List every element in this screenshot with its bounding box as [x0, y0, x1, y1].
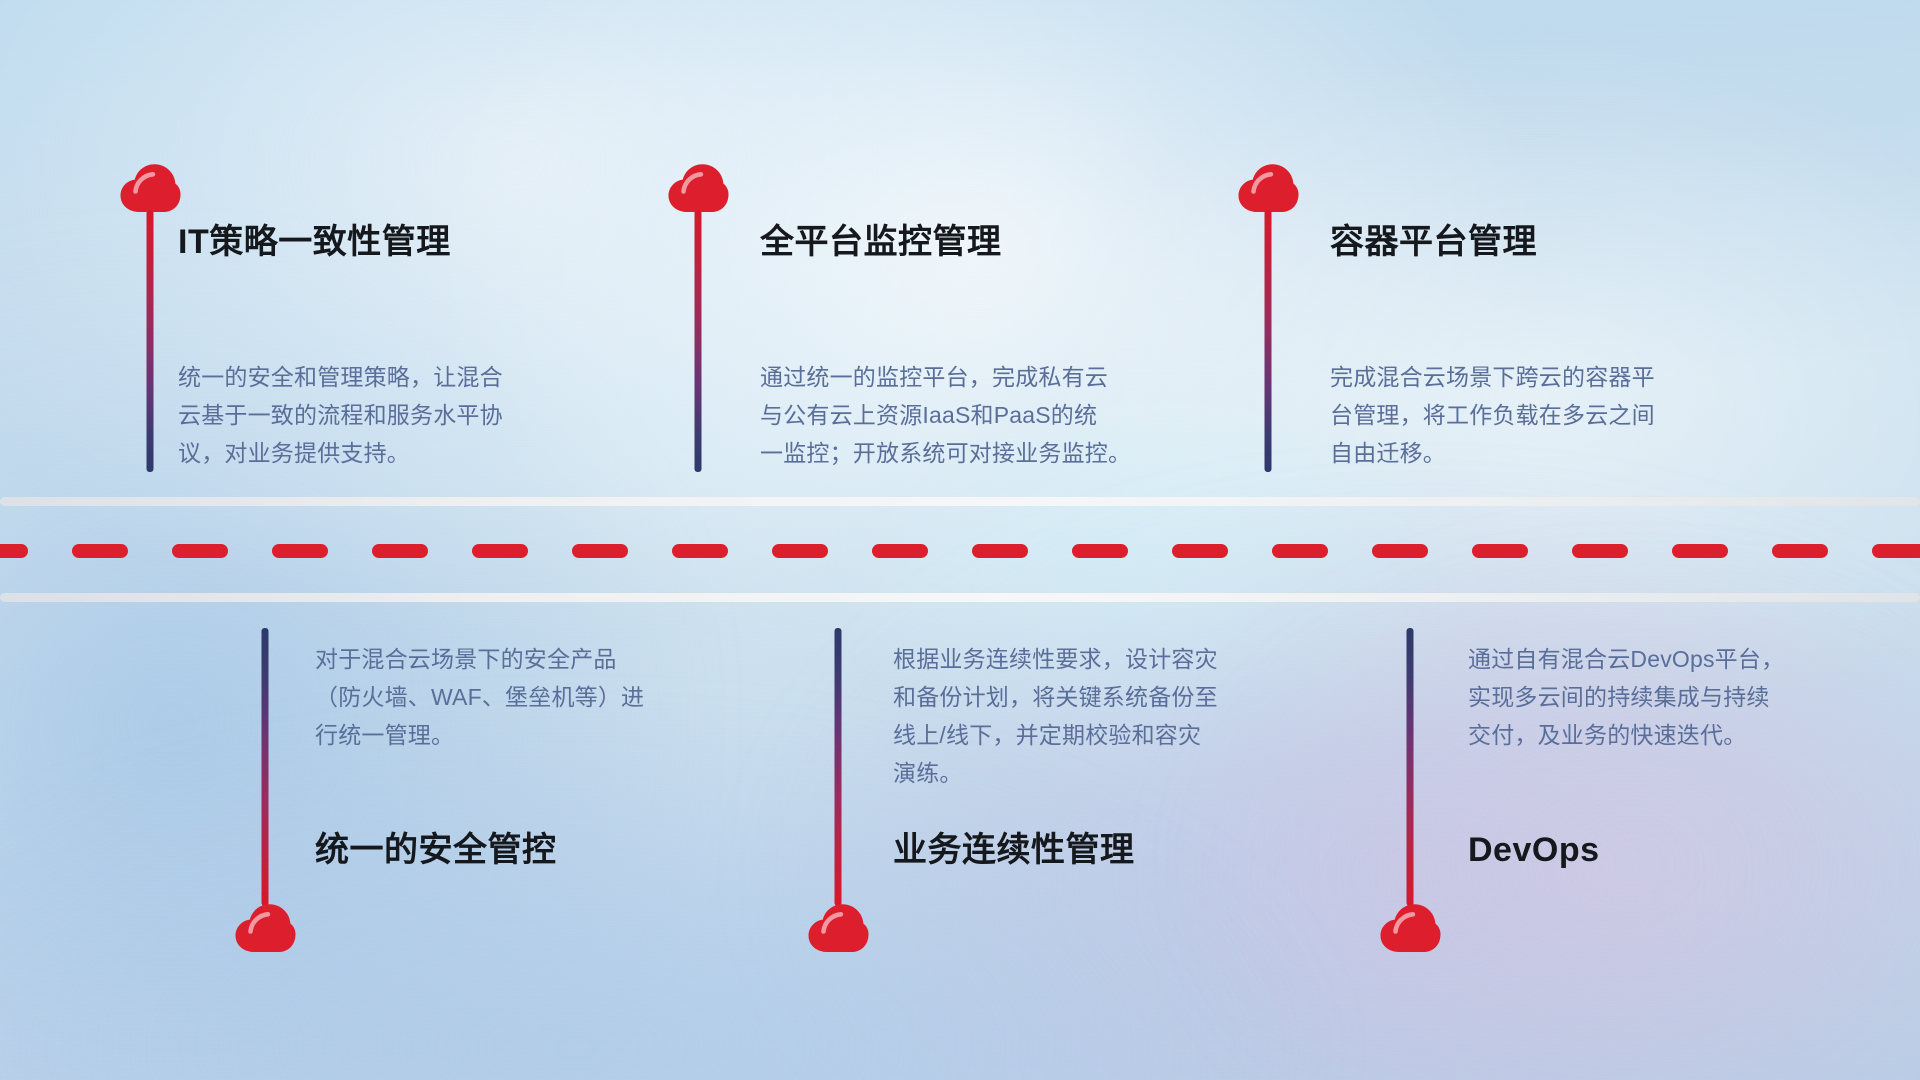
road-edge-top: [0, 497, 1920, 506]
cloud-icon: [1379, 900, 1441, 954]
road-dash-segment: [272, 544, 328, 558]
body-devops: 通过自有混合云DevOps平台， 实现多云间的持续集成与持续 交付，及业务的快速…: [1468, 640, 1908, 754]
road-dash-segment: [0, 544, 28, 558]
cloud-icon: [119, 160, 181, 214]
heading-container-platform: 容器平台管理: [1330, 222, 1537, 263]
cloud-icon: [807, 900, 869, 954]
cloud-pin-business-continuity: [818, 628, 858, 958]
body-full-platform-monitoring: 通过统一的监控平台，完成私有云 与公有云上资源IaaS和PaaS的统 一监控；开…: [760, 358, 1220, 472]
pin-stem: [262, 628, 269, 906]
heading-it-policy-consistency: IT策略一致性管理: [178, 222, 451, 263]
pin-stem: [1407, 628, 1414, 906]
road-dash-segment: [1172, 544, 1228, 558]
heading-business-continuity: 业务连续性管理: [893, 830, 1135, 871]
road-dash-segment: [1272, 544, 1328, 558]
road-edge-bottom: [0, 593, 1920, 602]
cloud-icon: [234, 900, 296, 954]
road-dash-segment: [1072, 544, 1128, 558]
road-dash-segment: [372, 544, 428, 558]
road-dash-segment: [1372, 544, 1428, 558]
pin-stem: [835, 628, 842, 906]
heading-devops: DevOps: [1468, 830, 1600, 871]
body-container-platform: 完成混合云场景下跨云的容器平 台管理，将工作负载在多云之间 自由迁移。: [1330, 358, 1780, 472]
pin-stem: [1265, 210, 1272, 472]
heading-unified-security-control: 统一的安全管控: [315, 830, 557, 871]
road-dashed-centerline: [0, 544, 1920, 558]
road-dash-segment: [1572, 544, 1628, 558]
road-dash-segment: [72, 544, 128, 558]
road-dash-segment: [472, 544, 528, 558]
cloud-pin-container-platform: [1248, 160, 1288, 470]
cloud-pin-unified-security-control: [245, 628, 285, 958]
pin-stem: [147, 210, 154, 472]
cloud-pin-devops: [1390, 628, 1430, 958]
road-dash-segment: [572, 544, 628, 558]
road-dash-segment: [872, 544, 928, 558]
cloud-icon: [667, 160, 729, 214]
road-dash-segment: [172, 544, 228, 558]
road-dash-segment: [1672, 544, 1728, 558]
body-business-continuity: 根据业务连续性要求，设计容灾 和备份计划，将关键系统备份至 线上/线下，并定期校…: [893, 640, 1333, 792]
road-dash-segment: [1772, 544, 1828, 558]
cloud-icon: [1237, 160, 1299, 214]
road-dash-segment: [672, 544, 728, 558]
infographic-canvas: IT策略一致性管理 统一的安全和管理策略，让混合 云基于一致的流程和服务水平协 …: [0, 0, 1920, 1080]
road-dash-segment: [1872, 544, 1920, 558]
body-it-policy-consistency: 统一的安全和管理策略，让混合 云基于一致的流程和服务水平协 议，对业务提供支持。: [178, 358, 608, 472]
pin-stem: [695, 210, 702, 472]
body-unified-security-control: 对于混合云场景下的安全产品 （防火墙、WAF、堡垒机等）进 行统一管理。: [315, 640, 755, 754]
road-dash-segment: [972, 544, 1028, 558]
road-dash-segment: [1472, 544, 1528, 558]
cloud-pin-it-policy-consistency: [130, 160, 170, 470]
cloud-pin-full-platform-monitoring: [678, 160, 718, 470]
heading-full-platform-monitoring: 全平台监控管理: [760, 222, 1002, 263]
road-dash-segment: [772, 544, 828, 558]
